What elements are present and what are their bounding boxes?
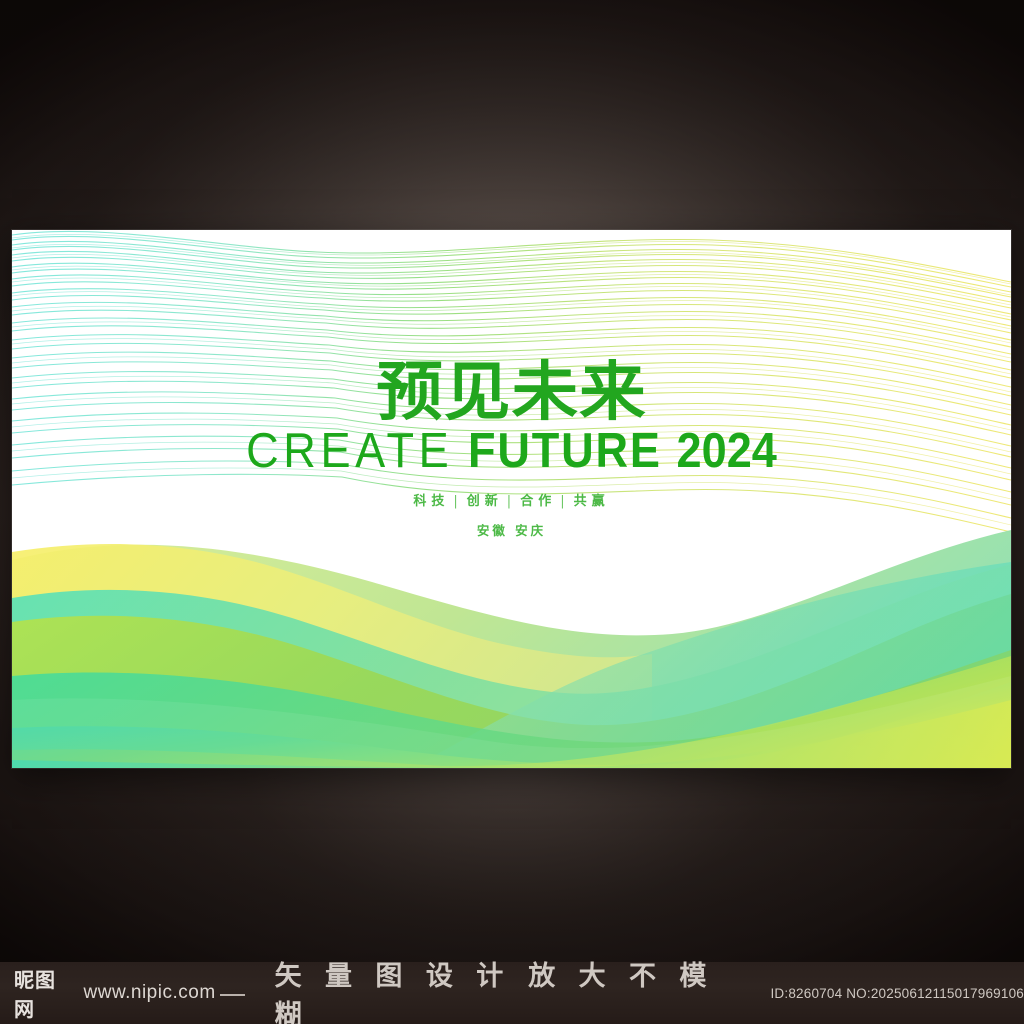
poster-canvas: 预见未来 CREATEFUTURE2024 科技|创新|合作|共赢 安徽 安庆 … — [0, 0, 1024, 1024]
top-line-ribbon-fill — [12, 234, 1011, 525]
bottom-wave-stack — [12, 530, 1011, 768]
banner-artboard: 预见未来 CREATEFUTURE2024 科技|创新|合作|共赢 安徽 安庆 — [12, 230, 1011, 768]
slogan-part-a: 矢 量 图 设 计 — [275, 961, 511, 992]
nipic-url: www.nipic.com — [84, 982, 216, 1004]
divider-dash-icon — [220, 994, 245, 996]
banner-artwork — [12, 230, 1011, 768]
watermark-slogan: 矢 量 图 设 计放 大 不 模 糊 — [275, 954, 745, 1024]
watermark-bar: 昵图网 www.nipic.com 矢 量 图 设 计放 大 不 模 糊 ID:… — [0, 962, 1024, 1024]
nipic-logo: 昵图网 — [14, 964, 75, 1022]
asset-id-label: ID:8260704 NO:20250612115017969106 — [770, 986, 1024, 1001]
